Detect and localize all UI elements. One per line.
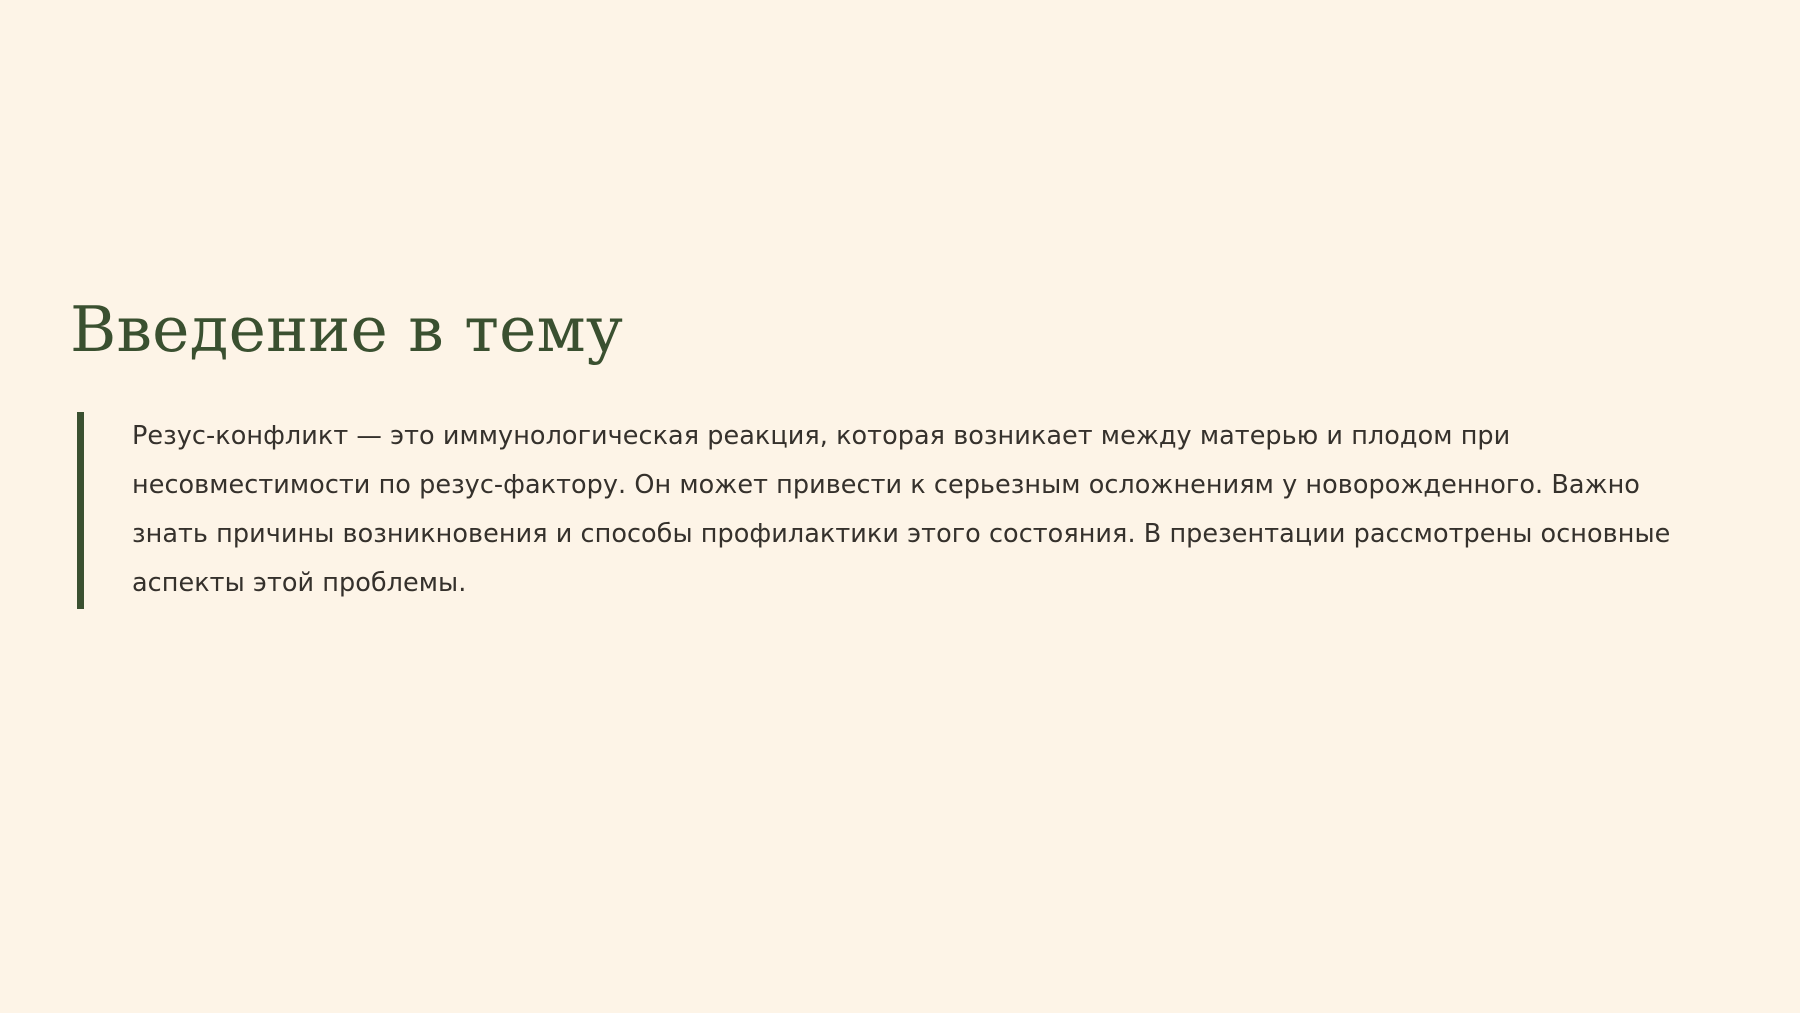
body-quote-block: Резус-конфликт — это иммунологическая ре…	[70, 412, 1730, 609]
slide-content: Введение в тему Резус-конфликт — это имм…	[70, 296, 1730, 609]
accent-bar	[77, 412, 84, 609]
body-paragraph: Резус-конфликт — это иммунологическая ре…	[132, 412, 1702, 608]
page-title: Введение в тему	[70, 296, 1730, 364]
presentation-slide: Введение в тему Резус-конфликт — это имм…	[0, 0, 1800, 1013]
